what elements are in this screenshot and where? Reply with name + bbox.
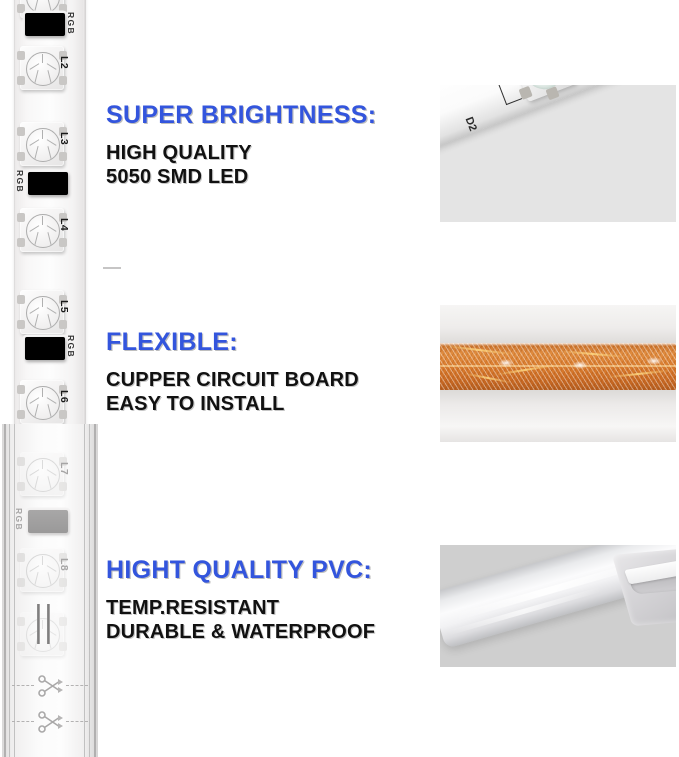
silkscreen-bracket [490,85,522,105]
chip-label-rgb: RGB [66,12,76,35]
led-label-l3: L3 [58,132,70,145]
led-label-l7: L7 [58,462,70,475]
pvc-sleeve-end-section [612,548,676,626]
solder-lead-wire [47,604,50,644]
rgb-driver-chip [25,13,65,36]
silkscreen-label-d2: D2 [463,115,479,132]
pcb-board: 101 R11 D2 + [440,85,676,153]
solder-lead-wire [37,604,40,644]
led-label-l5: L5 [58,300,70,313]
pvc-edge-line [14,424,15,757]
rgb-driver-chip [28,172,68,195]
feature-line: CUPPER CIRCUIT BOARD [106,368,359,392]
feature-line: EASY TO INSTALL [106,392,359,416]
led-label-l6: L6 [58,390,70,403]
feature-line: TEMP.RESISTANT [106,596,375,620]
led-label-l8: L8 [58,558,70,571]
chip-label-rgb: RGB [66,335,76,358]
pvc-edge-line [4,424,6,757]
pvc-edge-line [94,424,96,757]
led-label-l2: L2 [58,56,70,69]
pvc-edge-line [89,424,90,757]
rgb-driver-chip [25,337,65,360]
feature-heading: FLEXIBLE: [106,330,359,355]
pvc-shell-top [440,305,676,343]
cut-marker [10,673,90,699]
divider-artifact [103,267,121,269]
pvc-sleeve-photo [440,545,676,667]
feature-block-flexible: FLEXIBLE: CUPPER CIRCUIT BOARD EASY TO I… [106,330,359,417]
feature-block-brightness: SUPER BRIGHTNESS: HIGH QUALITY 5050 SMD … [106,103,376,190]
copper-circuit-board-photo [440,305,676,442]
led-package-terminal [20,612,64,656]
scissors-icon [38,674,64,698]
pvc-edge-line [9,424,10,757]
cut-marker [10,709,90,735]
led-strip-diagram: RGB L2 L3 RGB L4 L5 RGB L6 [0,0,100,757]
feature-line: DURABLE & WATERPROOF [106,620,375,644]
feature-heading: HIGHT QUALITY PVC: [106,558,375,583]
smd-led-macro-photo: 101 R11 D2 + [440,85,676,222]
pvc-edge-line [84,424,85,757]
chip-label-rgb: RGB [14,508,24,531]
scissors-icon [38,710,64,734]
chip-label-rgb: RGB [15,170,25,193]
copper-braid-band [440,343,676,391]
feature-line: 5050 SMD LED [106,165,376,189]
feature-heading: SUPER BRIGHTNESS: [106,103,376,128]
feature-line: HIGH QUALITY [106,141,376,165]
pvc-shell-bottom [440,390,676,442]
led-label-l4: L4 [58,218,70,231]
rgb-driver-chip [28,510,68,533]
feature-block-pvc: HIGHT QUALITY PVC: TEMP.RESISTANT DURABL… [106,558,375,645]
